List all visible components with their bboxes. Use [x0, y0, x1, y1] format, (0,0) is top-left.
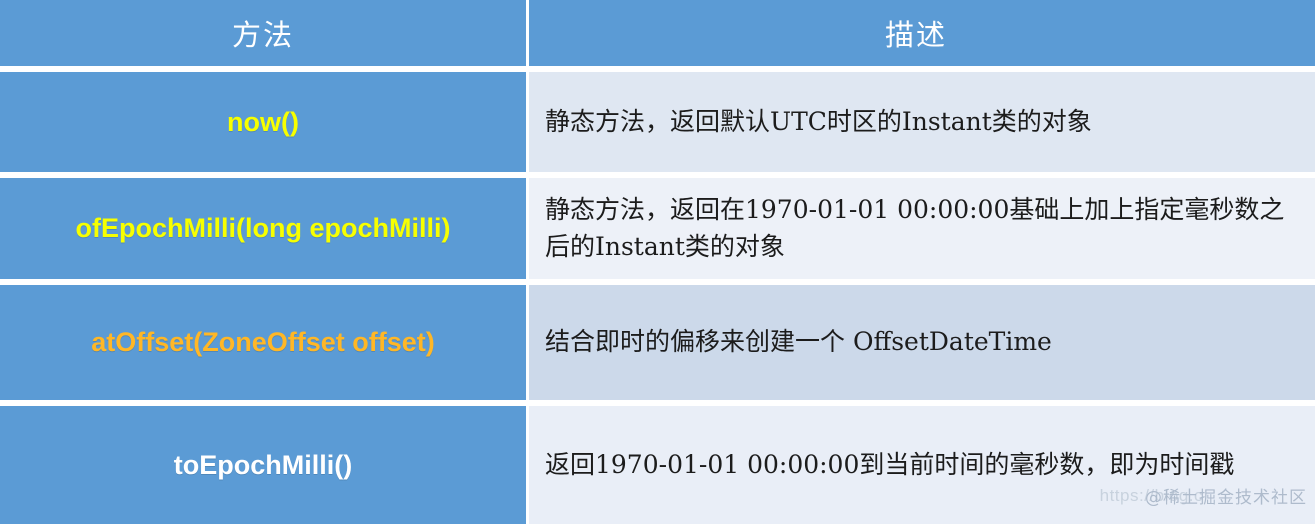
header-cell-description: 描述	[529, 0, 1315, 66]
description-cell: 结合即时的偏移来创建一个 OffsetDateTime	[529, 285, 1315, 400]
method-cell: toEpochMilli()	[0, 406, 529, 524]
header-label-method: 方法	[232, 12, 294, 54]
method-name: now()	[227, 106, 299, 138]
description-cell: 返回1970-01-01 00:00:00到当前时间的毫秒数，即为时间戳	[529, 406, 1315, 524]
method-name: ofEpochMilli(long epochMilli)	[76, 212, 451, 244]
description-text: 返回1970-01-01 00:00:00到当前时间的毫秒数，即为时间戳	[545, 447, 1234, 483]
method-name: atOffset(ZoneOffset offset)	[91, 326, 435, 358]
table-row: toEpochMilli() 返回1970-01-01 00:00:00到当前时…	[0, 406, 1315, 524]
table-row: now() 静态方法，返回默认UTC时区的Instant类的对象	[0, 72, 1315, 172]
description-cell: 静态方法，返回默认UTC时区的Instant类的对象	[529, 72, 1315, 172]
description-text: 静态方法，返回在1970-01-01 00:00:00基础上加上指定毫秒数之后的…	[545, 192, 1303, 265]
description-text: 静态方法，返回默认UTC时区的Instant类的对象	[545, 104, 1092, 140]
table-header-row: 方法 描述	[0, 0, 1315, 66]
method-name: toEpochMilli()	[174, 449, 352, 481]
description-text: 结合即时的偏移来创建一个 OffsetDateTime	[545, 324, 1052, 360]
method-description-table: 方法 描述 now() 静态方法，返回默认UTC时区的Instant类的对象 o…	[0, 0, 1315, 512]
method-cell: ofEpochMilli(long epochMilli)	[0, 178, 529, 279]
method-cell: atOffset(ZoneOffset offset)	[0, 285, 529, 400]
description-cell: 静态方法，返回在1970-01-01 00:00:00基础上加上指定毫秒数之后的…	[529, 178, 1315, 279]
table-row: ofEpochMilli(long epochMilli) 静态方法，返回在19…	[0, 178, 1315, 279]
header-cell-method: 方法	[0, 0, 529, 66]
method-cell: now()	[0, 72, 529, 172]
header-label-description: 描述	[885, 12, 947, 54]
table-row: atOffset(ZoneOffset offset) 结合即时的偏移来创建一个…	[0, 285, 1315, 400]
